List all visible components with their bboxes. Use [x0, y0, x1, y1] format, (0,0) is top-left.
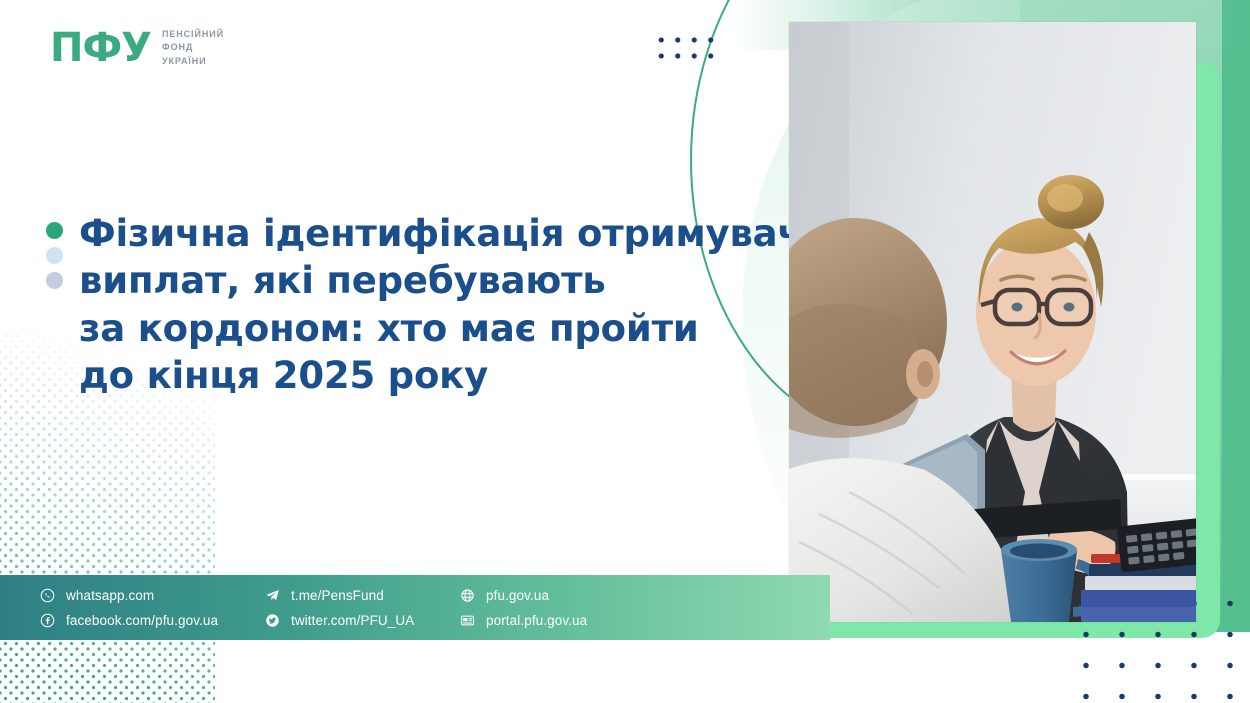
- logo-word-line-3: УКРАЇНИ: [162, 56, 224, 67]
- footer-column-3: pfu.gov.ua portal.pfu.gov.ua: [460, 588, 660, 628]
- footer-link-portal[interactable]: portal.pfu.gov.ua: [460, 613, 660, 628]
- footer-link-label: whatsapp.com: [66, 588, 154, 603]
- footer-link-label: facebook.com/pfu.gov.ua: [66, 613, 218, 628]
- navy-dot-grid-top: [653, 32, 719, 68]
- footer-link-twitter[interactable]: twitter.com/PFU_UA: [265, 613, 460, 628]
- photo-illustration: [789, 22, 1196, 622]
- twitter-icon: [265, 613, 280, 628]
- bullet-dots: [46, 210, 63, 399]
- portal-icon: [460, 613, 475, 628]
- footer-link-label: pfu.gov.ua: [486, 588, 549, 603]
- footer-link-label: portal.pfu.gov.ua: [486, 613, 587, 628]
- logo-word-line-1: ПЕНСІЙНИЙ: [162, 29, 224, 40]
- brand-logo[interactable]: ПФУ ПЕНСІЙНИЙ ФОНД УКРАЇНИ: [50, 28, 224, 68]
- footer-link-facebook[interactable]: facebook.com/pfu.gov.ua: [40, 613, 265, 628]
- footer-column-1: whatsapp.com facebook.com/pfu.gov.ua: [40, 588, 265, 628]
- headline-line-2: виплат, які перебувають: [79, 257, 779, 304]
- whatsapp-icon: [40, 588, 55, 603]
- bullet-dot-lightblue: [46, 247, 63, 264]
- headline-block: Фізична ідентифікація отримувачів виплат…: [46, 210, 779, 399]
- footer-link-website[interactable]: pfu.gov.ua: [460, 588, 660, 603]
- page-title: Фізична ідентифікація отримувачів виплат…: [79, 210, 779, 399]
- footer-link-whatsapp[interactable]: whatsapp.com: [40, 588, 265, 603]
- bullet-dot-grayblue: [46, 272, 63, 289]
- footer-link-telegram[interactable]: t.me/PensFund: [265, 588, 460, 603]
- headline-line-4: до кінця 2025 року: [79, 352, 779, 399]
- facebook-icon: [40, 613, 55, 628]
- bullet-dot-green: [46, 222, 63, 239]
- globe-icon: [460, 588, 475, 603]
- consultation-photo: [789, 22, 1196, 622]
- footer-column-2: t.me/PensFund twitter.com/PFU_UA: [265, 588, 460, 628]
- footer-link-label: twitter.com/PFU_UA: [291, 613, 414, 628]
- poster-canvas: ПФУ ПЕНСІЙНИЙ ФОНД УКРАЇНИ Фізична ідент…: [0, 0, 1250, 703]
- logo-word-line-2: ФОНД: [162, 42, 224, 53]
- telegram-icon: [265, 588, 280, 603]
- footer-link-label: t.me/PensFund: [291, 588, 384, 603]
- logo-monogram: ПФУ: [50, 28, 151, 68]
- headline-line-3: за кордоном: хто має пройти: [79, 305, 779, 352]
- contact-footer: whatsapp.com facebook.com/pfu.gov.ua t.m…: [0, 575, 830, 640]
- logo-wordmark: ПЕНСІЙНИЙ ФОНД УКРАЇНИ: [162, 29, 224, 67]
- headline-line-1: Фізична ідентифікація отримувачів: [79, 210, 779, 257]
